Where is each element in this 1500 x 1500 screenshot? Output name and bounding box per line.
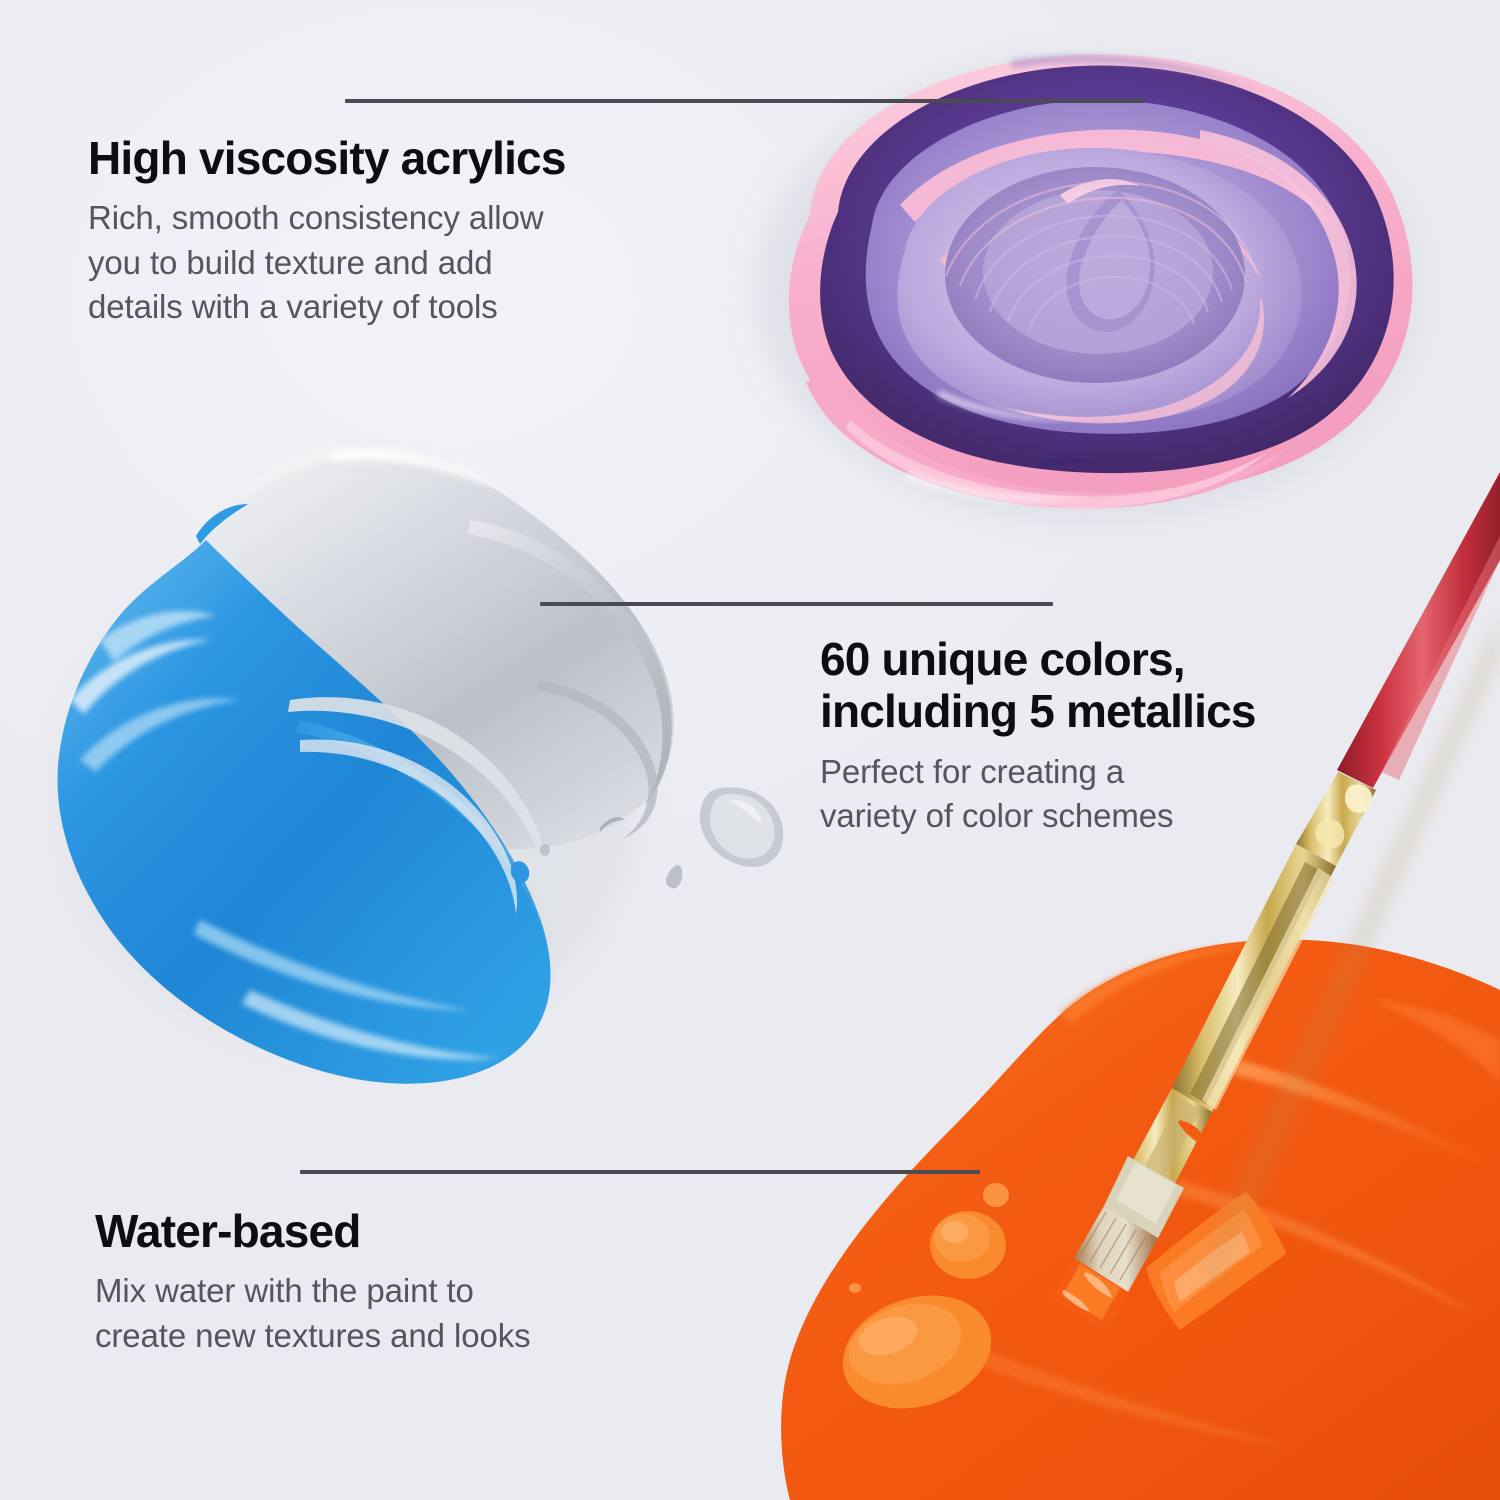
infographic-canvas: High viscosity acrylics Rich, smooth con…: [0, 0, 1500, 1500]
feature-title-2: 60 unique colors, including 5 metallics: [820, 633, 1420, 738]
feature-block-sixty-unique-colors: 60 unique colors, including 5 metallics …: [820, 633, 1420, 838]
feature-title-1: High viscosity acrylics: [88, 132, 748, 184]
orange-paint-swath: [781, 940, 1500, 1500]
feature-block-water-based: Water-based Mix water with the paint to …: [95, 1205, 735, 1358]
flat-paintbrush: [1052, 472, 1500, 1332]
purple-pink-paint-swirl: [755, 54, 1415, 520]
feature-title-3: Water-based: [95, 1205, 735, 1257]
feature-body-1: Rich, smooth consistency allow you to bu…: [88, 196, 748, 329]
silver-paint-droplet: [666, 787, 783, 888]
feature-body-2: Perfect for creating a variety of color …: [820, 750, 1420, 838]
feature-block-high-viscosity-acrylics: High viscosity acrylics Rich, smooth con…: [88, 132, 748, 329]
feature-body-3: Mix water with the paint to create new t…: [95, 1269, 735, 1357]
metallic-blue-silver-paint-smear: [58, 449, 674, 1084]
divider-rule-1: [345, 99, 1145, 103]
divider-rule-2: [540, 602, 1053, 606]
divider-rule-3: [300, 1170, 980, 1174]
